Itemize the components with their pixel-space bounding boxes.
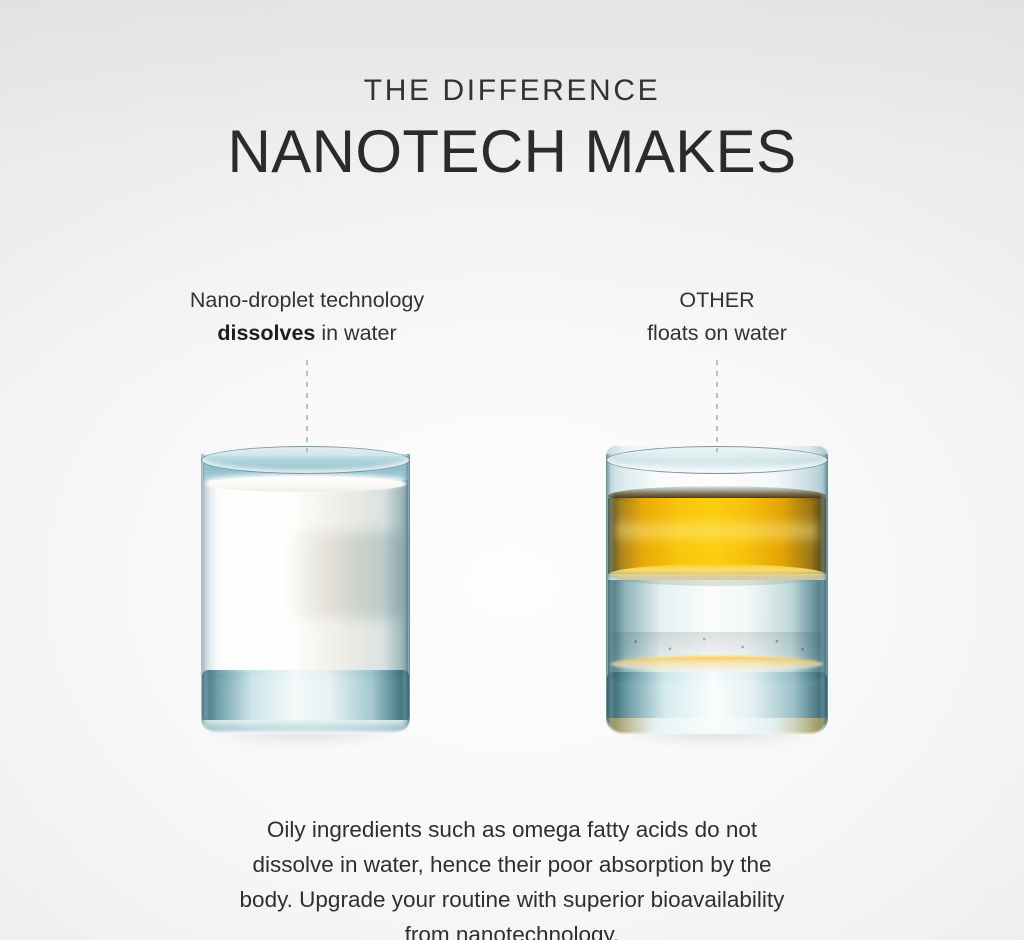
body-copy-line-2: dissolve in water, hence their poor abso… (140, 847, 884, 882)
headline-block: THE DIFFERENCE NANOTECH MAKES (0, 76, 1024, 184)
glass-right-foot (608, 718, 826, 734)
caption-left-line-1: Nano-droplet technology (107, 284, 507, 317)
caption-left-line-2-rest: in water (315, 321, 396, 345)
glass-right-body (606, 446, 828, 734)
glass-right-wall-left (606, 454, 615, 730)
glass-left-milk-shading (203, 532, 408, 618)
glass-left-body (201, 446, 410, 734)
body-copy-line-4: from nanotechnology. (140, 917, 884, 940)
glass-left-foot (203, 720, 408, 734)
body-copy-line-1: Oily ingredients such as omega fatty aci… (140, 812, 884, 847)
page-title: NANOTECH MAKES (0, 120, 1024, 184)
glass-left-wall-right (401, 454, 410, 730)
caption-left: Nano-droplet technology dissolves in wat… (107, 284, 507, 351)
body-copy: Oily ingredients such as omega fatty aci… (140, 812, 884, 940)
glass-right-caustic-ring (610, 656, 824, 672)
glass-right-wall-right (819, 454, 828, 730)
glass-right-floating-oil (606, 446, 828, 734)
connector-line-right (716, 360, 718, 452)
infographic-canvas: THE DIFFERENCE NANOTECH MAKES Nano-dropl… (0, 0, 1024, 940)
caption-right: OTHER floats on water (567, 284, 867, 351)
headline-eyebrow: THE DIFFERENCE (0, 76, 1024, 106)
caption-right-line-2: floats on water (567, 317, 867, 350)
caption-left-line-2: dissolves in water (107, 317, 507, 350)
glass-left-dissolved (201, 446, 410, 734)
caption-left-emphasis: dissolves (217, 321, 315, 345)
glass-left-wall-left (201, 454, 210, 730)
glass-right-oil-sheen (616, 516, 818, 546)
glass-left-liquid-surface (204, 476, 407, 492)
glass-right-particles (610, 632, 824, 656)
connector-line-left (306, 360, 308, 452)
caption-right-line-1: OTHER (567, 284, 867, 317)
body-copy-line-3: body. Upgrade your routine with superior… (140, 882, 884, 917)
